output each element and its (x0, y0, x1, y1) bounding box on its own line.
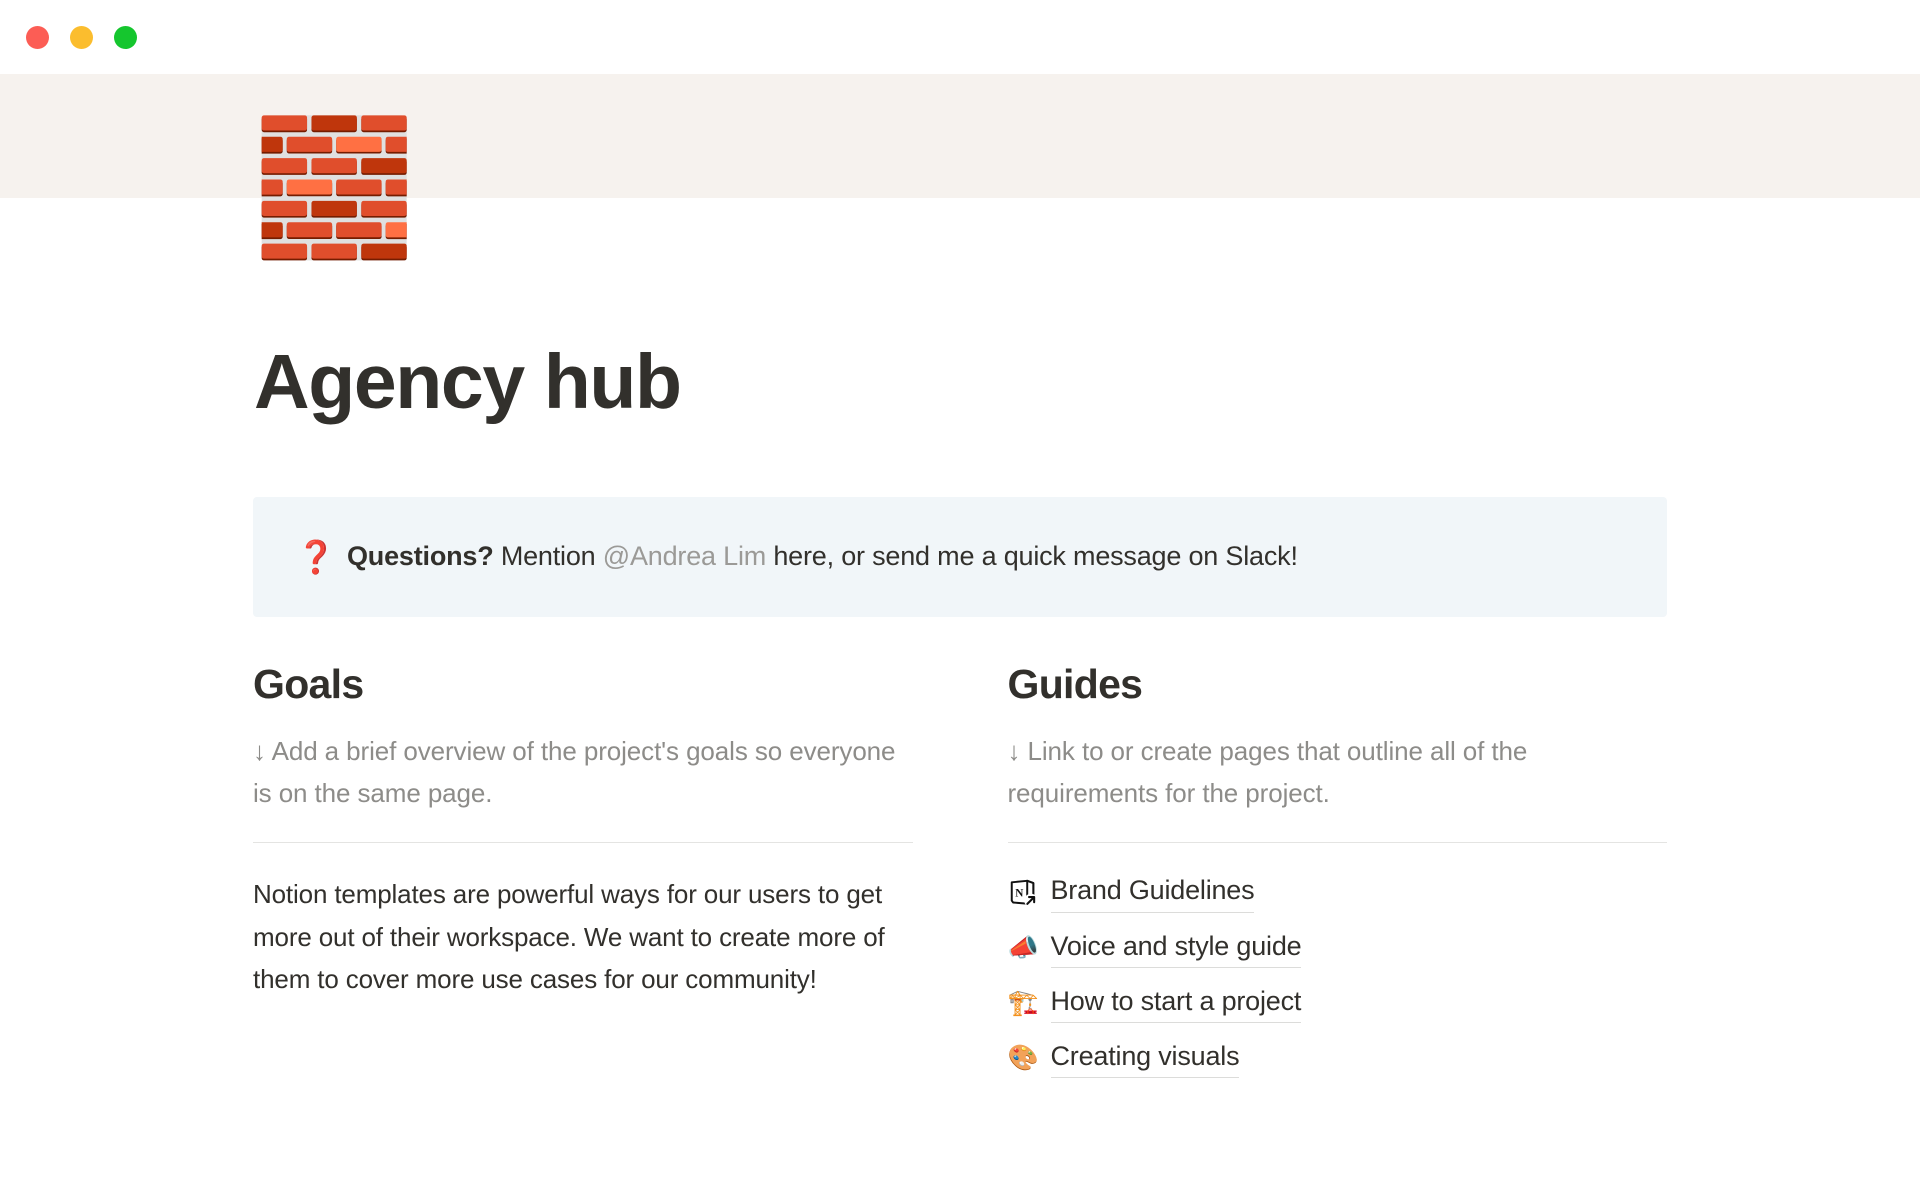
guide-link-label[interactable]: Brand Guidelines (1051, 873, 1255, 912)
window-traffic-lights (26, 26, 137, 49)
guides-description: ↓ Link to or create pages that outline a… (1008, 730, 1668, 814)
guides-heading[interactable]: Guides (1008, 659, 1668, 710)
guide-link-label[interactable]: How to start a project (1051, 984, 1302, 1023)
megaphone-emoji: 📣 (1008, 936, 1038, 961)
list-item[interactable]: 📣 Voice and style guide (1008, 929, 1668, 968)
close-button[interactable] (26, 26, 49, 49)
guide-link-label[interactable]: Voice and style guide (1051, 929, 1302, 968)
goals-column: Goals ↓ Add a brief overview of the proj… (253, 659, 913, 1078)
guide-link-label[interactable]: Creating visuals (1051, 1039, 1240, 1078)
list-item[interactable]: N Brand Guidelines (1008, 873, 1668, 912)
notion-page-link-icon: N (1008, 878, 1038, 908)
maximize-button[interactable] (114, 26, 137, 49)
construction-crane-emoji: 🏗️ (1008, 991, 1038, 1016)
goals-body-text[interactable]: Notion templates are powerful ways for o… (253, 873, 913, 999)
guides-divider (1008, 842, 1668, 843)
window-titlebar (0, 0, 1920, 74)
two-column-layout: Goals ↓ Add a brief overview of the proj… (253, 659, 1667, 1078)
goals-heading[interactable]: Goals (253, 659, 913, 710)
minimize-button[interactable] (70, 26, 93, 49)
list-item[interactable]: 🎨 Creating visuals (1008, 1039, 1668, 1078)
user-mention[interactable]: @Andrea Lim (603, 541, 766, 571)
goals-divider (253, 842, 913, 843)
callout-text-before-mention: Mention (494, 541, 603, 571)
list-item[interactable]: 🏗️ How to start a project (1008, 984, 1668, 1023)
svg-text:N: N (1015, 887, 1023, 899)
red-question-mark-emoji: ❓ (285, 541, 347, 573)
questions-callout[interactable]: ❓ Questions? Mention @Andrea Lim here, o… (253, 497, 1667, 617)
callout-text: Questions? Mention @Andrea Lim here, or … (347, 538, 1298, 576)
page-title[interactable]: Agency hub (254, 342, 681, 423)
callout-bold-text: Questions? (347, 541, 494, 571)
guides-link-list: N Brand Guidelines 📣 Voice and style gui… (1008, 873, 1668, 1077)
guides-column: Guides ↓ Link to or create pages that ou… (1008, 659, 1668, 1078)
goals-description: ↓ Add a brief overview of the project's … (253, 730, 913, 814)
brick-emoji[interactable]: 🧱 (252, 112, 400, 264)
artist-palette-emoji: 🎨 (1008, 1046, 1038, 1071)
page-content: Agency hub ❓ Questions? Mention @Andrea … (0, 198, 1920, 1200)
callout-text-after-mention: here, or send me a quick message on Slac… (766, 541, 1298, 571)
